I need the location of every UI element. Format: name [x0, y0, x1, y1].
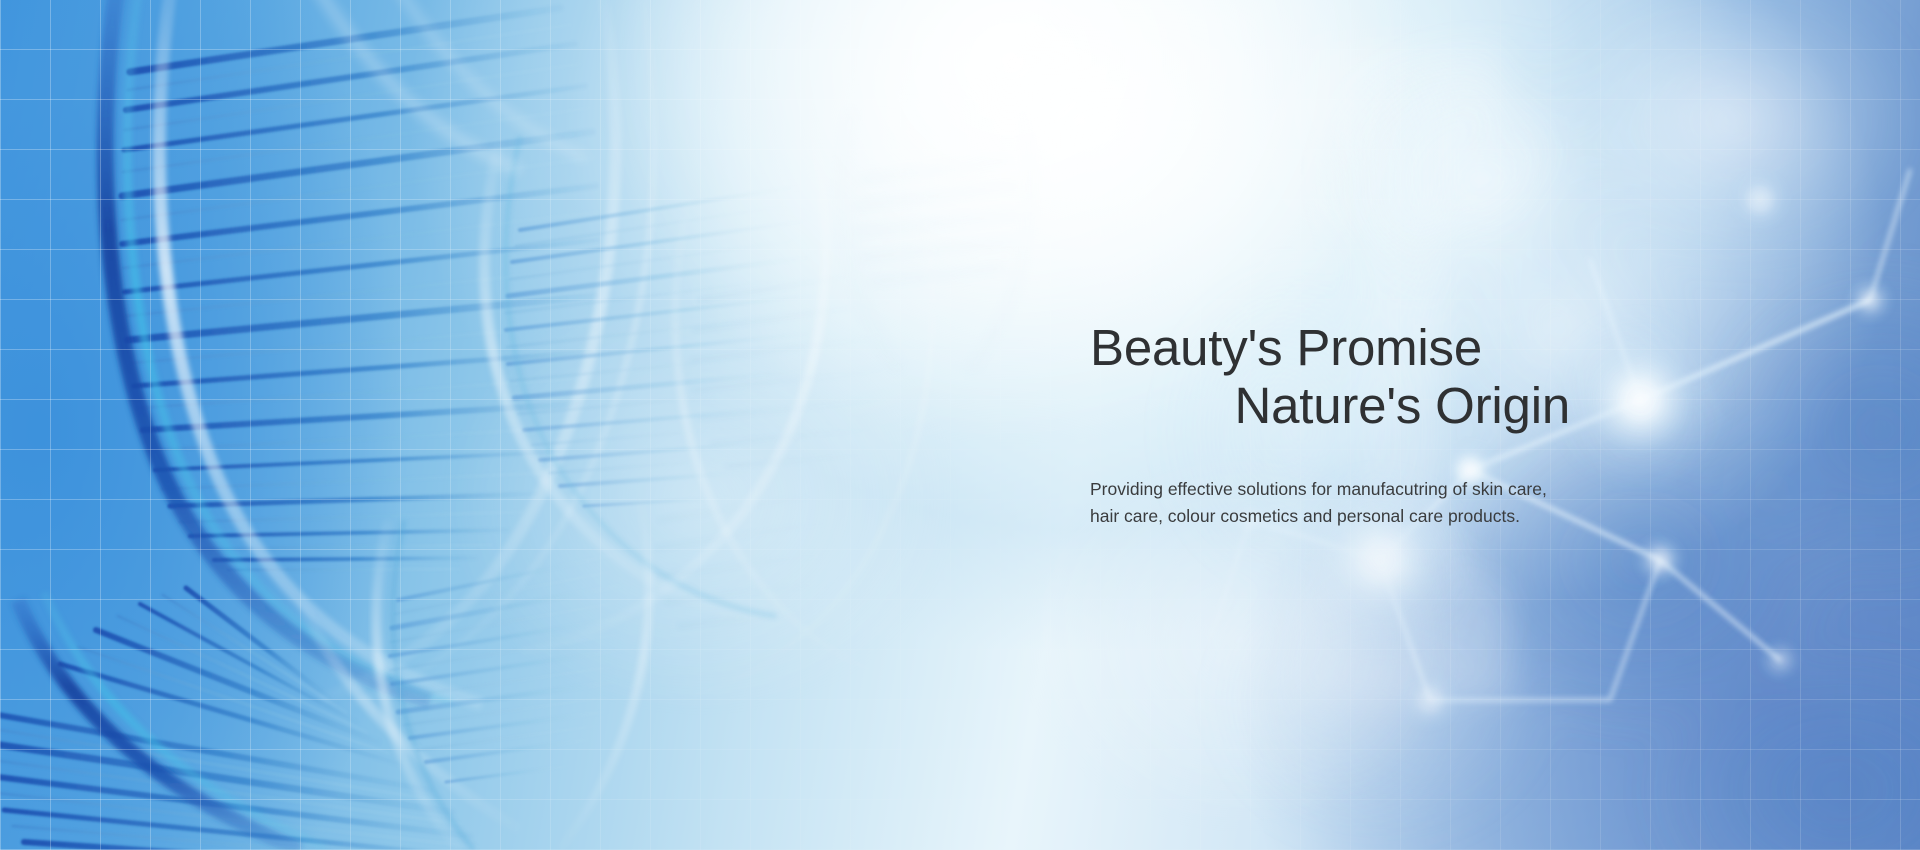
subcopy-line-2: hair care, colour cosmetics and personal…: [1090, 503, 1570, 530]
headline-line-1: Beauty's Promise: [1090, 322, 1570, 375]
background-grid-overlay: [0, 0, 1920, 850]
subcopy-line-1: Providing effective solutions for manufa…: [1090, 476, 1570, 503]
hero-subcopy: Providing effective solutions for manufa…: [1090, 476, 1570, 529]
hero-copy-block: Beauty's Promise Nature's Origin Providi…: [1090, 322, 1570, 529]
headline-line-2: Nature's Origin: [1090, 380, 1570, 433]
hero-headline: Beauty's Promise Nature's Origin: [1090, 322, 1570, 432]
hero-banner: Beauty's Promise Nature's Origin Providi…: [0, 0, 1920, 850]
